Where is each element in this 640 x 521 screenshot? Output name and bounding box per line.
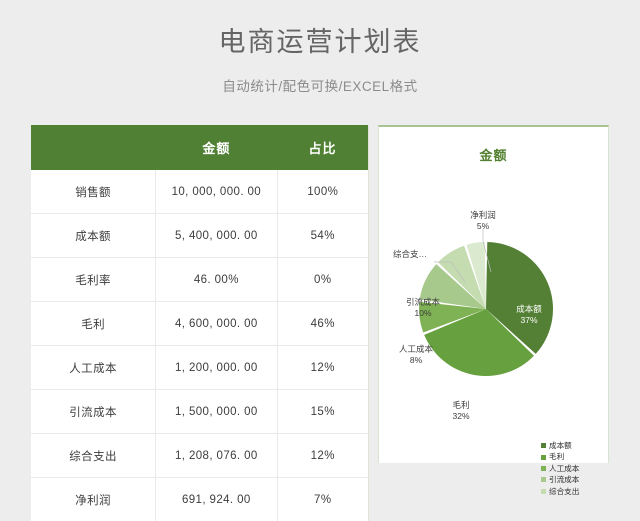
cell-amount: 1, 200, 000. 00 (156, 346, 277, 390)
cell-name: 毛利 (31, 302, 156, 346)
pie-label-yinliuchengben-value: 10% (396, 308, 450, 319)
table-row[interactable]: 净利润 691, 924. 00 7% (31, 478, 368, 521)
cell-amount: 46. 00% (156, 258, 277, 302)
legend-swatch-icon (541, 443, 546, 448)
pie-label-jinglirun-value: 5% (461, 221, 505, 232)
pie-label-maoli-name: 毛利 (452, 400, 469, 410)
legend-item-chengbene[interactable]: 成本额 (541, 440, 579, 451)
cell-amount: 10, 000, 000. 00 (156, 170, 277, 214)
cell-name: 毛利率 (31, 258, 156, 302)
cell-amount: 4, 600, 000. 00 (156, 302, 277, 346)
pie-label-zonghezhichu: 综合支… (385, 249, 435, 260)
pie-label-chengbene-name: 成本额 (516, 304, 542, 314)
table-row[interactable]: 引流成本 1, 500, 000. 00 15% (31, 390, 368, 434)
pie-label-yinliuchengben-name: 引流成本 (406, 297, 440, 307)
table-row[interactable]: 人工成本 1, 200, 000. 00 12% (31, 346, 368, 390)
pie-label-rengongchengben-name: 人工成本 (399, 344, 433, 354)
cell-name: 引流成本 (31, 390, 156, 434)
cell-name: 综合支出 (31, 434, 156, 478)
cell-name: 净利润 (31, 478, 156, 521)
column-header-name (31, 125, 156, 170)
cell-amount: 1, 500, 000. 00 (156, 390, 277, 434)
cell-amount: 1, 208, 076. 00 (156, 434, 277, 478)
cell-percent: 0% (277, 258, 368, 302)
cell-percent: 15% (277, 390, 368, 434)
pie-label-zonghezhichu-name: 综合支… (393, 249, 427, 259)
legend-label: 毛利 (549, 451, 564, 462)
cell-amount: 691, 924. 00 (156, 478, 277, 521)
page-subtitle: 自动统计/配色可换/EXCEL格式 (0, 75, 640, 95)
table-header-row: 金额 占比 (31, 125, 368, 170)
legend-item-maoli[interactable]: 毛利 (541, 451, 579, 462)
column-header-percent: 占比 (277, 125, 368, 170)
chart-panel: 金额 净利润 5% 综合支… 引流成本 10% (378, 125, 609, 463)
cell-percent: 54% (277, 214, 368, 258)
legend-item-zonghezhichu[interactable]: 综合支出 (541, 486, 579, 497)
cell-percent: 12% (277, 434, 368, 478)
pie-label-chengbene: 成本额 37% (507, 304, 551, 326)
plan-table: 金额 占比 销售额 10, 000, 000. 00 100% 成本额 5, 4… (31, 125, 368, 521)
page-header: 电商运营计划表 自动统计/配色可换/EXCEL格式 (0, 0, 640, 95)
cell-percent: 7% (277, 478, 368, 521)
pie-label-jinglirun-name: 净利润 (470, 210, 496, 220)
table-row[interactable]: 毛利率 46. 00% 0% (31, 258, 368, 302)
pie-chart: 净利润 5% 综合支… 引流成本 10% 人工成本 8% 成本额 37% 毛利 … (379, 164, 610, 464)
legend-label: 综合支出 (549, 486, 579, 497)
pie-label-maoli: 毛利 32% (439, 400, 483, 422)
table-body: 销售额 10, 000, 000. 00 100% 成本额 5, 400, 00… (31, 170, 368, 521)
page-title: 电商运营计划表 (0, 26, 640, 60)
pie-label-maoli-value: 32% (439, 411, 483, 422)
cell-name: 销售额 (31, 170, 156, 214)
legend-label: 引流成本 (549, 474, 579, 485)
legend-label: 成本额 (549, 440, 572, 451)
pie-label-yinliuchengben: 引流成本 10% (396, 297, 450, 319)
plan-table-panel: 金额 占比 销售额 10, 000, 000. 00 100% 成本额 5, 4… (31, 125, 369, 521)
table-row[interactable]: 成本额 5, 400, 000. 00 54% (31, 214, 368, 258)
legend-item-yinliuchengben[interactable]: 引流成本 (541, 474, 579, 485)
cell-percent: 12% (277, 346, 368, 390)
cell-percent: 100% (277, 170, 368, 214)
pie-label-chengbene-value: 37% (507, 315, 551, 326)
chart-title: 金额 (379, 145, 608, 164)
chart-legend: 成本额 毛利 人工成本 引流成本 综合支出 (541, 440, 579, 497)
column-header-amount: 金额 (156, 125, 277, 170)
legend-label: 人工成本 (549, 463, 579, 474)
legend-swatch-icon (541, 489, 546, 494)
table-row[interactable]: 销售额 10, 000, 000. 00 100% (31, 170, 368, 214)
legend-swatch-icon (541, 477, 546, 482)
table-row[interactable]: 毛利 4, 600, 000. 00 46% (31, 302, 368, 346)
legend-swatch-icon (541, 466, 546, 471)
pie-label-rengongchengben: 人工成本 8% (389, 344, 443, 366)
pie-label-rengongchengben-value: 8% (389, 355, 443, 366)
cell-percent: 46% (277, 302, 368, 346)
legend-swatch-icon (541, 455, 546, 460)
table-head: 金额 占比 (31, 125, 368, 170)
cell-amount: 5, 400, 000. 00 (156, 214, 277, 258)
table-row[interactable]: 综合支出 1, 208, 076. 00 12% (31, 434, 368, 478)
legend-item-rengongchengben[interactable]: 人工成本 (541, 463, 579, 474)
cell-name: 人工成本 (31, 346, 156, 390)
cell-name: 成本额 (31, 214, 156, 258)
pie-label-jinglirun: 净利润 5% (461, 210, 505, 232)
